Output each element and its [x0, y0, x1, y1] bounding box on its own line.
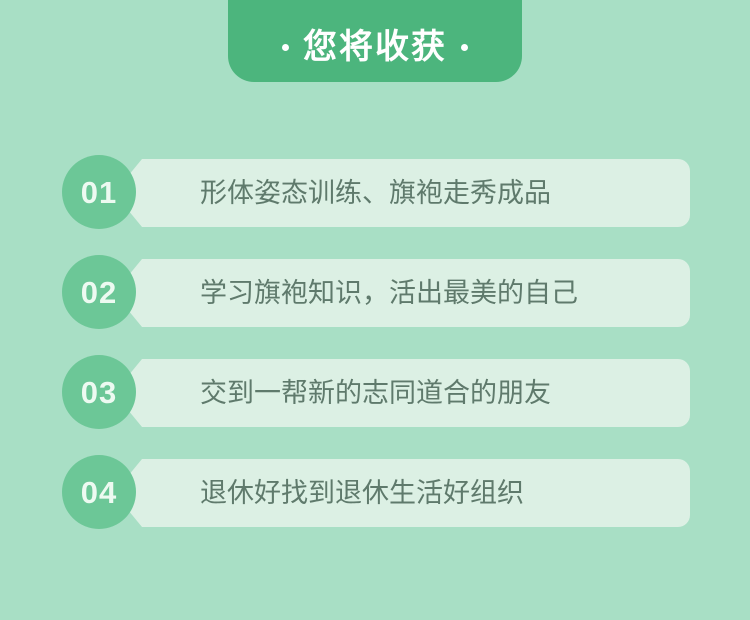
benefit-text: 交到一帮新的志同道合的朋友 — [200, 380, 551, 407]
benefit-text: 形体姿态训练、旗袍走秀成品 — [200, 180, 551, 207]
benefit-bar: 形体姿态训练、旗袍走秀成品 — [142, 159, 690, 227]
list-item: 02 学习旗袍知识，活出最美的自己 — [0, 255, 750, 333]
list-item: 04 退休好找到退休生活好组织 — [0, 455, 750, 533]
benefit-badge-number: 03 — [81, 377, 117, 408]
benefit-badge: 01 — [62, 155, 136, 229]
benefit-bar: 退休好找到退休生活好组织 — [142, 459, 690, 527]
header-title-group: 您将收获 — [282, 30, 468, 64]
benefit-text: 学习旗袍知识，活出最美的自己 — [200, 280, 578, 307]
benefit-badge: 04 — [62, 455, 136, 529]
benefit-text: 退休好找到退休生活好组织 — [200, 480, 524, 507]
list-item: 03 交到一帮新的志同道合的朋友 — [0, 355, 750, 433]
benefit-badge-number: 02 — [81, 277, 117, 308]
benefit-list: 01 形体姿态训练、旗袍走秀成品 02 学习旗袍知识，活出最美的自己 03 交到… — [0, 155, 750, 555]
header-banner: 您将收获 — [228, 0, 522, 82]
benefit-badge: 02 — [62, 255, 136, 329]
page-title: 您将收获 — [303, 30, 447, 64]
benefit-bar: 学习旗袍知识，活出最美的自己 — [142, 259, 690, 327]
header-left-dot-icon — [282, 44, 289, 51]
benefit-badge-number: 04 — [81, 477, 117, 508]
list-item: 01 形体姿态训练、旗袍走秀成品 — [0, 155, 750, 233]
header-right-dot-icon — [461, 44, 468, 51]
benefit-badge: 03 — [62, 355, 136, 429]
benefit-bar: 交到一帮新的志同道合的朋友 — [142, 359, 690, 427]
benefit-badge-number: 01 — [81, 177, 117, 208]
